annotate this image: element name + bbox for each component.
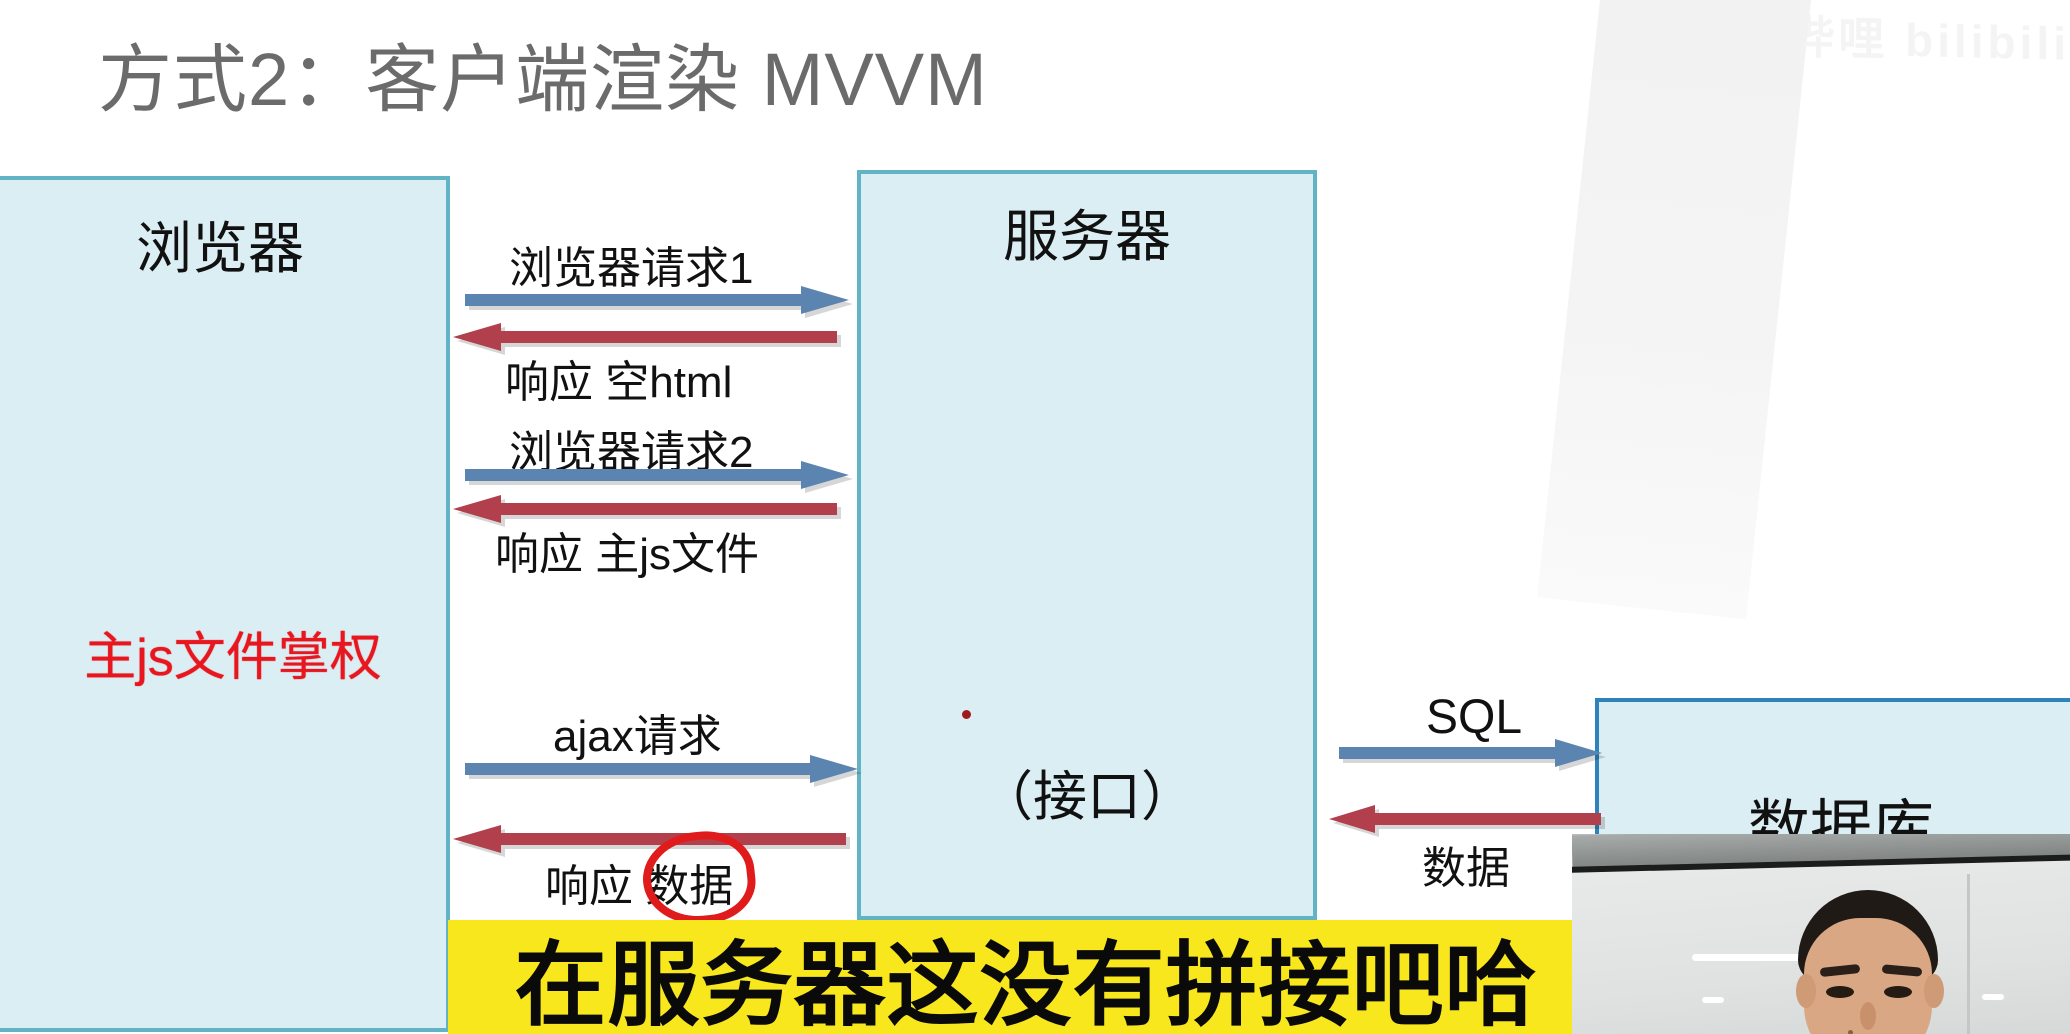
flow-label-3: 响应 主js文件 — [495, 518, 759, 582]
bilibili-watermark: 哔哩哔哩 bilibili — [1430, 0, 2070, 78]
webcam-person-eye-left — [1826, 986, 1854, 998]
flow-label-1: 响应 空html — [505, 346, 732, 410]
slide-canvas: 哔哩哔哩 bilibili 方式2：客户端渲染 MVVM 浏览器 主js文件掌权… — [0, 0, 2070, 1034]
subtitle-bar: 在服务器这没有拼接吧哈 — [448, 920, 1604, 1034]
flow-arrow-7 — [1326, 802, 1606, 836]
flow-arrow-6 — [1336, 736, 1606, 770]
webcam-person-eye-right — [1884, 986, 1912, 998]
flow-arrow-4 — [462, 752, 862, 786]
webcam-light-reflection — [1692, 954, 1802, 961]
watermark-slab — [1537, 0, 1813, 619]
webcam-person-nose — [1860, 1002, 1876, 1030]
webcam-person-ear-right — [1924, 974, 1944, 1008]
webcam-light-reflection-2 — [1702, 997, 1724, 1003]
subtitle-text: 在服务器这没有拼接吧哈 — [514, 911, 1537, 1034]
webcam-person-ear-left — [1796, 974, 1816, 1008]
flow-arrow-0 — [462, 283, 852, 317]
flow-arrow-2 — [462, 458, 852, 492]
webcam-overlay[interactable] — [1572, 834, 2070, 1034]
server-interface-label: （接口） — [857, 752, 1317, 831]
browser-box-label: 浏览器 — [0, 204, 446, 285]
page-title: 方式2：客户端渲染 MVVM — [98, 20, 988, 127]
webcam-wall-seam — [1967, 874, 1970, 1034]
webcam-light-reflection-3 — [1982, 994, 2004, 1000]
flow-label-7: 数据 — [1422, 832, 1510, 896]
webcam-person-mole — [1848, 1030, 1853, 1034]
browser-note: 主js文件掌权 — [68, 615, 398, 690]
watermark-text: 哔哩哔哩 bilibili — [1688, 0, 2070, 74]
red-dot-marker — [962, 710, 971, 719]
server-box-label: 服务器 — [861, 192, 1313, 273]
browser-box: 浏览器 — [0, 176, 450, 1032]
